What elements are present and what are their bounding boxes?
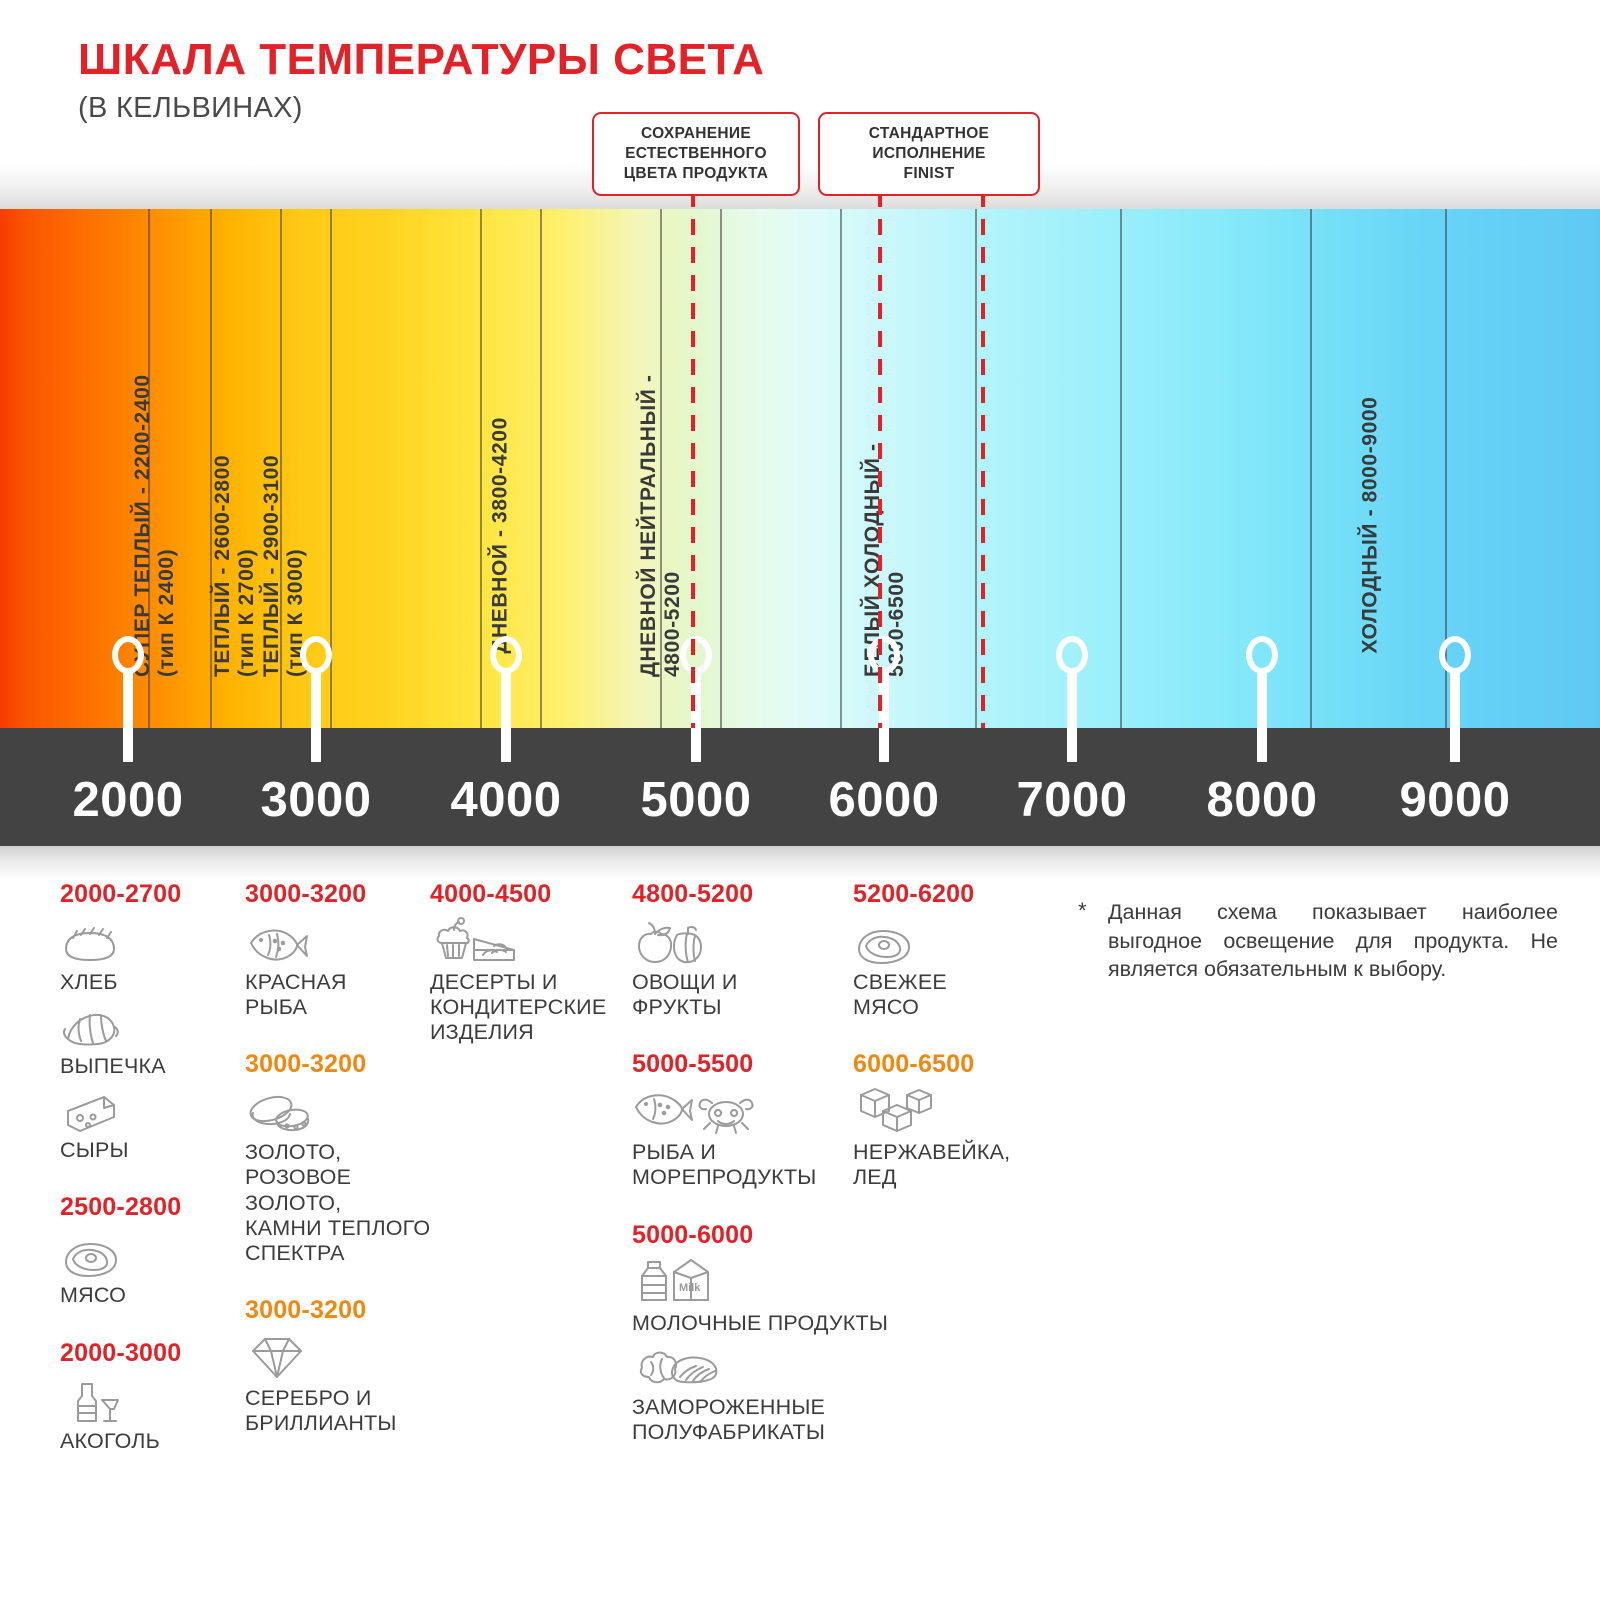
legend-range-header: 3000-3200 [245, 880, 435, 909]
legend-range-header: 3000-3200 [245, 1050, 435, 1079]
legend-range-header: 5000-6000 [632, 1221, 932, 1250]
marker-ring-icon [1056, 636, 1088, 674]
callout-natural-color: СОХРАНЕНИЕ ЕСТЕСТВЕННОГО ЦВЕТА ПРОДУКТА [592, 112, 800, 196]
band-label-neutral: ДНЕВНОЙ НЕЙТРАЛЬНЫЙ -4800-5200 [637, 375, 684, 677]
gold-rings-icon [245, 1085, 435, 1137]
band-label-line-2: (тип К 2400) [154, 374, 178, 677]
legend-item-label: ЗОЛОТО, РОЗОВОЕ ЗОЛОТО, КАМНИ ТЕПЛОГО СП… [245, 1140, 435, 1266]
legend-column: 3000-3200КРАСНАЯ РЫБА3000-3200ЗОЛОТО, РО… [245, 880, 435, 1440]
product-legend: 2000-2700ХЛЕБВЫПЕЧКАСЫРЫ2500-2800МЯСО200… [0, 880, 1600, 1600]
legend-item-label: АКОГОЛЬ [60, 1429, 250, 1454]
callout-line-1: СОХРАНЕНИЕ [606, 124, 786, 144]
legend-item: ЗАМОРОЖЕННЫЕ ПОЛУФАБРИКАТЫ [632, 1340, 932, 1445]
marker-ring-icon [112, 636, 144, 674]
top-shadow-band [0, 163, 1600, 209]
marker-stem [1257, 670, 1267, 762]
marker-ring-icon [680, 636, 712, 674]
legend-item-label: МОЛОЧНЫЕ ПРОДУКТЫ [632, 1311, 932, 1336]
legend-range-header: 2500-2800 [60, 1193, 250, 1222]
bread-icon [60, 915, 250, 967]
legend-spacer [60, 1313, 250, 1339]
marker-ring-icon [1246, 636, 1278, 674]
cheese-icon [60, 1083, 250, 1135]
legend-item: СЕРЕБРО И БРИЛЛИАНТЫ [245, 1331, 435, 1436]
band-divider [720, 209, 722, 728]
dashed-marker-line [878, 163, 882, 728]
footnote-text: Данная схема показывает наиболее выгодно… [1108, 898, 1558, 984]
band-label-line-2: 4800-5200 [660, 375, 684, 677]
croissant-icon [60, 999, 250, 1051]
band-label-line-2: (тип К 2700) [234, 455, 258, 677]
legend-item-label: СЫРЫ [60, 1138, 250, 1163]
scale-tick-label: 2000 [72, 772, 183, 828]
legend-range-header: 4000-4500 [430, 880, 625, 909]
diamond-icon [245, 1331, 435, 1383]
marker-stem [1450, 670, 1460, 762]
marker-ring-icon [868, 636, 900, 674]
band-label-line-1: ДНЕВНОЙ - 3800-4200 [488, 417, 511, 653]
scale-tick-label: 5000 [640, 772, 751, 828]
legend-range-header: 6000-6500 [853, 1050, 1043, 1079]
band-label-daylight: ДНЕВНОЙ - 3800-4200 [488, 417, 512, 653]
legend-item-label: ЗАМОРОЖЕННЫЕ ПОЛУФАБРИКАТЫ [632, 1395, 932, 1445]
legend-range-header: 5200-6200 [853, 880, 1043, 909]
legend-item: СВЕЖЕЕ МЯСО [853, 915, 1043, 1020]
marker-stem [311, 670, 321, 762]
legend-column: 4000-4500ДЕСЕРТЫ И КОНДИТЕРСКИЕ ИЗДЕЛИЯ [430, 880, 625, 1049]
legend-item: СЫРЫ [60, 1083, 250, 1163]
band-label-super_warm: СУПЕР ТЕПЛЫЙ - 2200-2400(тип К 2400) [131, 374, 178, 677]
band-divider [1120, 209, 1122, 728]
band-label-line-1: ТЕПЛЫЙ - 2600-2800 [211, 455, 234, 677]
legend-item-label: ДЕСЕРТЫ И КОНДИТЕРСКИЕ ИЗДЕЛИЯ [430, 970, 625, 1045]
legend-column: 5200-6200СВЕЖЕЕ МЯСО6000-6500НЕРЖАВЕЙКА,… [853, 880, 1043, 1195]
red-fish-icon [245, 915, 435, 967]
legend-item-label: НЕРЖАВЕЙКА, ЛЕД [853, 1140, 1043, 1190]
callout-line-2: ЕСТЕСТВЕННОГО [606, 144, 786, 164]
band-divider [1310, 209, 1312, 728]
legend-range-header: 3000-3200 [245, 1296, 435, 1325]
legend-item: АКОГОЛЬ [60, 1374, 250, 1454]
band-label-line-1: ДНЕВНОЙ НЕЙТРАЛЬНЫЙ - [637, 375, 660, 677]
page-title: ШКАЛА ТЕМПЕРАТУРЫ СВЕТА [78, 38, 764, 82]
legend-item: КРАСНАЯ РЫБА [245, 915, 435, 1020]
legend-spacer [60, 1167, 250, 1193]
band-label-cold: ХОЛОДНЫЙ - 8000-9000 [1358, 397, 1382, 654]
band-label-line-1: ХОЛОДНЫЙ - 8000-9000 [1358, 397, 1381, 654]
marker-ring-icon [300, 636, 332, 674]
band-label-line-1: ТЕПЛЫЙ - 2900-3100 [260, 455, 283, 677]
footnote: * Данная схема показывает наиболее выгод… [1078, 898, 1558, 984]
dashed-marker-line [691, 163, 695, 728]
callout-line-3: ЦВЕТА ПРОДУКТА [606, 164, 786, 184]
callout-finist-standard: СТАНДАРТНОЕ ИСПОЛНЕНИЕ FINIST [818, 112, 1040, 196]
dashed-marker-line [981, 163, 985, 728]
legend-item: ЗОЛОТО, РОЗОВОЕ ЗОЛОТО, КАМНИ ТЕПЛОГО СП… [245, 1085, 435, 1266]
legend-range-header: 2000-2700 [60, 880, 250, 909]
scale-tick-label: 4000 [450, 772, 561, 828]
scale-number-band [0, 728, 1600, 846]
scale-tick-label: 8000 [1206, 772, 1317, 828]
legend-item: ВЫПЕЧКА [60, 999, 250, 1079]
dairy-icon: Milk [632, 1256, 932, 1308]
marker-stem [501, 670, 511, 762]
scale-tick-label: 7000 [1016, 772, 1127, 828]
svg-text:Milk: Milk [679, 1282, 701, 1294]
infographic-page: ШКАЛА ТЕМПЕРАТУРЫ СВЕТА (В КЕЛЬВИНАХ) СО… [0, 0, 1600, 1600]
legend-range-header: 2000-3000 [60, 1339, 250, 1368]
legend-spacer [853, 1024, 1043, 1050]
legend-item: MilkМОЛОЧНЫЕ ПРОДУКТЫ [632, 1256, 932, 1336]
band-divider [480, 209, 482, 728]
callout-line-1: СТАНДАРТНОЕ [832, 124, 1026, 144]
legend-column: 2000-2700ХЛЕБВЫПЕЧКАСЫРЫ2500-2800МЯСО200… [60, 880, 250, 1458]
legend-spacer [245, 1024, 435, 1050]
ice-cubes-icon [853, 1085, 1043, 1137]
legend-item-label: МЯСО [60, 1283, 250, 1308]
scale-tick-label: 3000 [260, 772, 371, 828]
band-label-warm_3000: ТЕПЛЫЙ - 2900-3100(тип К 3000) [260, 455, 307, 677]
frozen-food-icon [632, 1340, 932, 1392]
band-label-line-1: СУПЕР ТЕПЛЫЙ - 2200-2400 [131, 374, 154, 677]
bottom-shadow-band [0, 846, 1600, 880]
legend-item-label: ХЛЕБ [60, 970, 250, 995]
band-divider [840, 209, 842, 728]
alcohol-icon [60, 1374, 250, 1426]
legend-item: ДЕСЕРТЫ И КОНДИТЕРСКИЕ ИЗДЕЛИЯ [430, 915, 625, 1045]
legend-item-label: КРАСНАЯ РЫБА [245, 970, 435, 1020]
legend-item: ХЛЕБ [60, 915, 250, 995]
dessert-icon [430, 915, 625, 967]
fresh-meat-icon [853, 915, 1043, 967]
legend-spacer [632, 1195, 932, 1221]
callout-line-3: FINIST [832, 164, 1026, 184]
legend-spacer [245, 1270, 435, 1296]
legend-item-label: СЕРЕБРО И БРИЛЛИАНТЫ [245, 1386, 435, 1436]
legend-item-label: ВЫПЕЧКА [60, 1054, 250, 1079]
band-divider [540, 209, 542, 728]
legend-item: НЕРЖАВЕЙКА, ЛЕД [853, 1085, 1043, 1190]
legend-item: МЯСО [60, 1228, 250, 1308]
footnote-star: * [1078, 898, 1108, 984]
legend-item-label: СВЕЖЕЕ МЯСО [853, 970, 1043, 1020]
band-divider [975, 209, 977, 728]
scale-tick-label: 9000 [1399, 772, 1510, 828]
marker-stem [1067, 670, 1077, 762]
marker-ring-icon [1439, 636, 1471, 674]
callout-line-2: ИСПОЛНЕНИЕ [832, 144, 1026, 164]
marker-ring-icon [490, 636, 522, 674]
marker-stem [123, 670, 133, 762]
band-label-warm_2700: ТЕПЛЫЙ - 2600-2800(тип К 2700) [211, 455, 258, 677]
scale-tick-label: 6000 [828, 772, 939, 828]
steak-icon [60, 1228, 250, 1280]
